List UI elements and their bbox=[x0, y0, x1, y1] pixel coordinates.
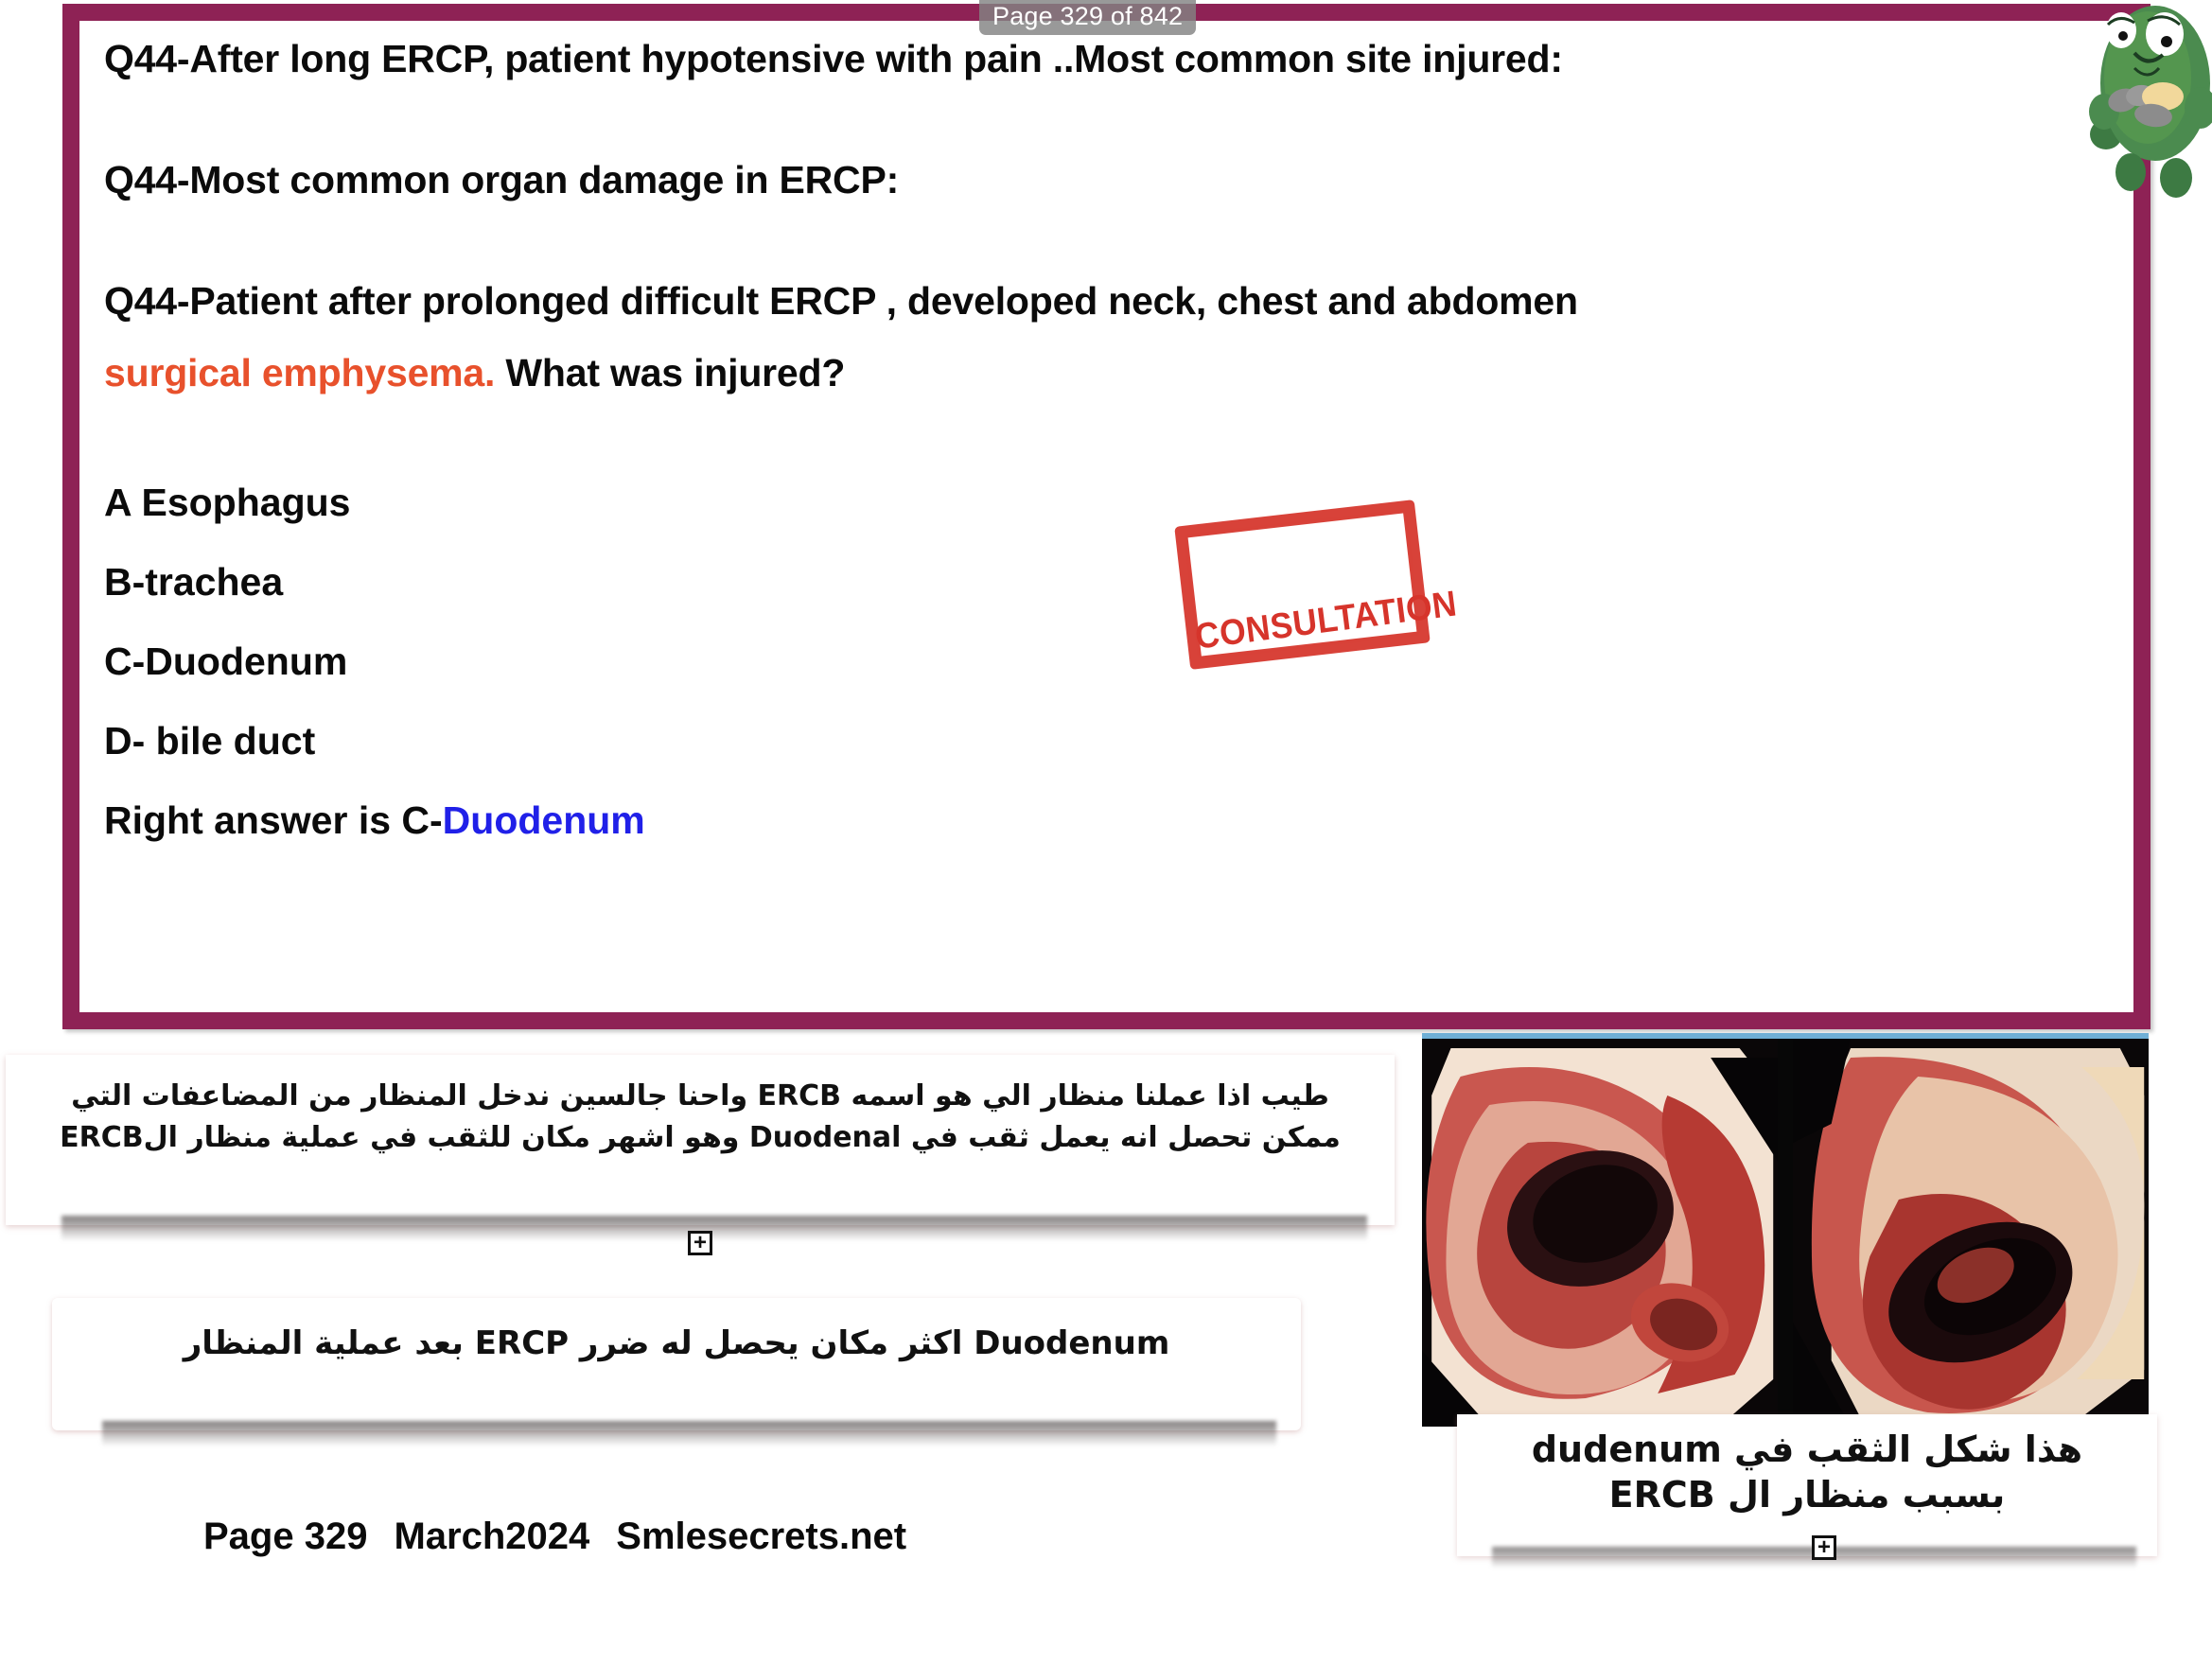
arabic-note-card-1: طيب اذا عملنا منظار الي هو اسمه ERCB واح… bbox=[6, 1055, 1395, 1225]
endoscopy-image-right bbox=[1793, 1039, 2149, 1427]
arabic-note-1-text: طيب اذا عملنا منظار الي هو اسمه ERCB واح… bbox=[6, 1055, 1395, 1158]
arabic-note-2-text: Duodenum اكثر مكان يحصل له ضرر ERCP بعد … bbox=[52, 1298, 1301, 1364]
consultation-stamp: CONSULTATION bbox=[1174, 499, 1431, 670]
footer-page: Page 329 bbox=[203, 1516, 367, 1557]
endoscopy-image bbox=[1422, 1039, 2149, 1427]
question-stem-line-1: Q44-Patient after prolonged difficult ER… bbox=[104, 282, 1578, 321]
highlight-surgical-emphysema: surgical emphysema. bbox=[104, 351, 495, 394]
footer-site: Smlesecrets.net bbox=[616, 1516, 906, 1557]
option-b[interactable]: B-trachea bbox=[104, 560, 283, 605]
figure-caption-text: هذا شكل الثقب في dudenum بسبب منظار ال E… bbox=[1457, 1414, 2157, 1517]
question-stem-rest: What was injured? bbox=[495, 351, 845, 394]
option-c[interactable]: C-Duodenum bbox=[104, 640, 347, 684]
arabic-note-card-2: Duodenum اكثر مكان يحصل له ضرر ERCP بعد … bbox=[52, 1298, 1301, 1430]
option-d[interactable]: D- bile duct bbox=[104, 719, 315, 763]
slide-footer: Page 329March2024Smlesecrets.net bbox=[203, 1516, 933, 1558]
answer-prefix: Right answer is C- bbox=[104, 798, 443, 842]
endoscopy-figure bbox=[1422, 1033, 2149, 1440]
question-line-1: Q44-After long ERCP, patient hypotensive… bbox=[104, 40, 1563, 79]
page-indicator-badge: Page 329 of 842 bbox=[979, 0, 1196, 35]
expand-figure-button[interactable]: + bbox=[1812, 1535, 1836, 1560]
figure-caption-card: هذا شكل الثقب في dudenum بسبب منظار ال E… bbox=[1457, 1414, 2157, 1556]
note-2-shadow bbox=[102, 1421, 1276, 1446]
answer-value: Duodenum bbox=[443, 798, 645, 842]
slide-page: Page 329 of 842 Q44-After long ERCP, pat… bbox=[0, 0, 2212, 1665]
slide-frame: Q44-After long ERCP, patient hypotensive… bbox=[62, 4, 2151, 1029]
question-stem-line-2: surgical emphysema. What was injured? bbox=[104, 354, 845, 393]
note-1-shadow bbox=[61, 1216, 1367, 1240]
expand-note-1-button[interactable]: + bbox=[688, 1231, 712, 1255]
slide-content: Q44-After long ERCP, patient hypotensive… bbox=[79, 21, 2133, 1012]
endoscopy-image-left bbox=[1422, 1039, 1778, 1427]
gallbladder-mascot-icon bbox=[2081, 0, 2212, 204]
option-a[interactable]: A Esophagus bbox=[104, 481, 350, 525]
footer-date: March2024 bbox=[394, 1516, 589, 1557]
question-line-2: Q44-Most common organ damage in ERCP: bbox=[104, 161, 899, 200]
answer-line: Right answer is C-Duodenum bbox=[104, 798, 645, 843]
